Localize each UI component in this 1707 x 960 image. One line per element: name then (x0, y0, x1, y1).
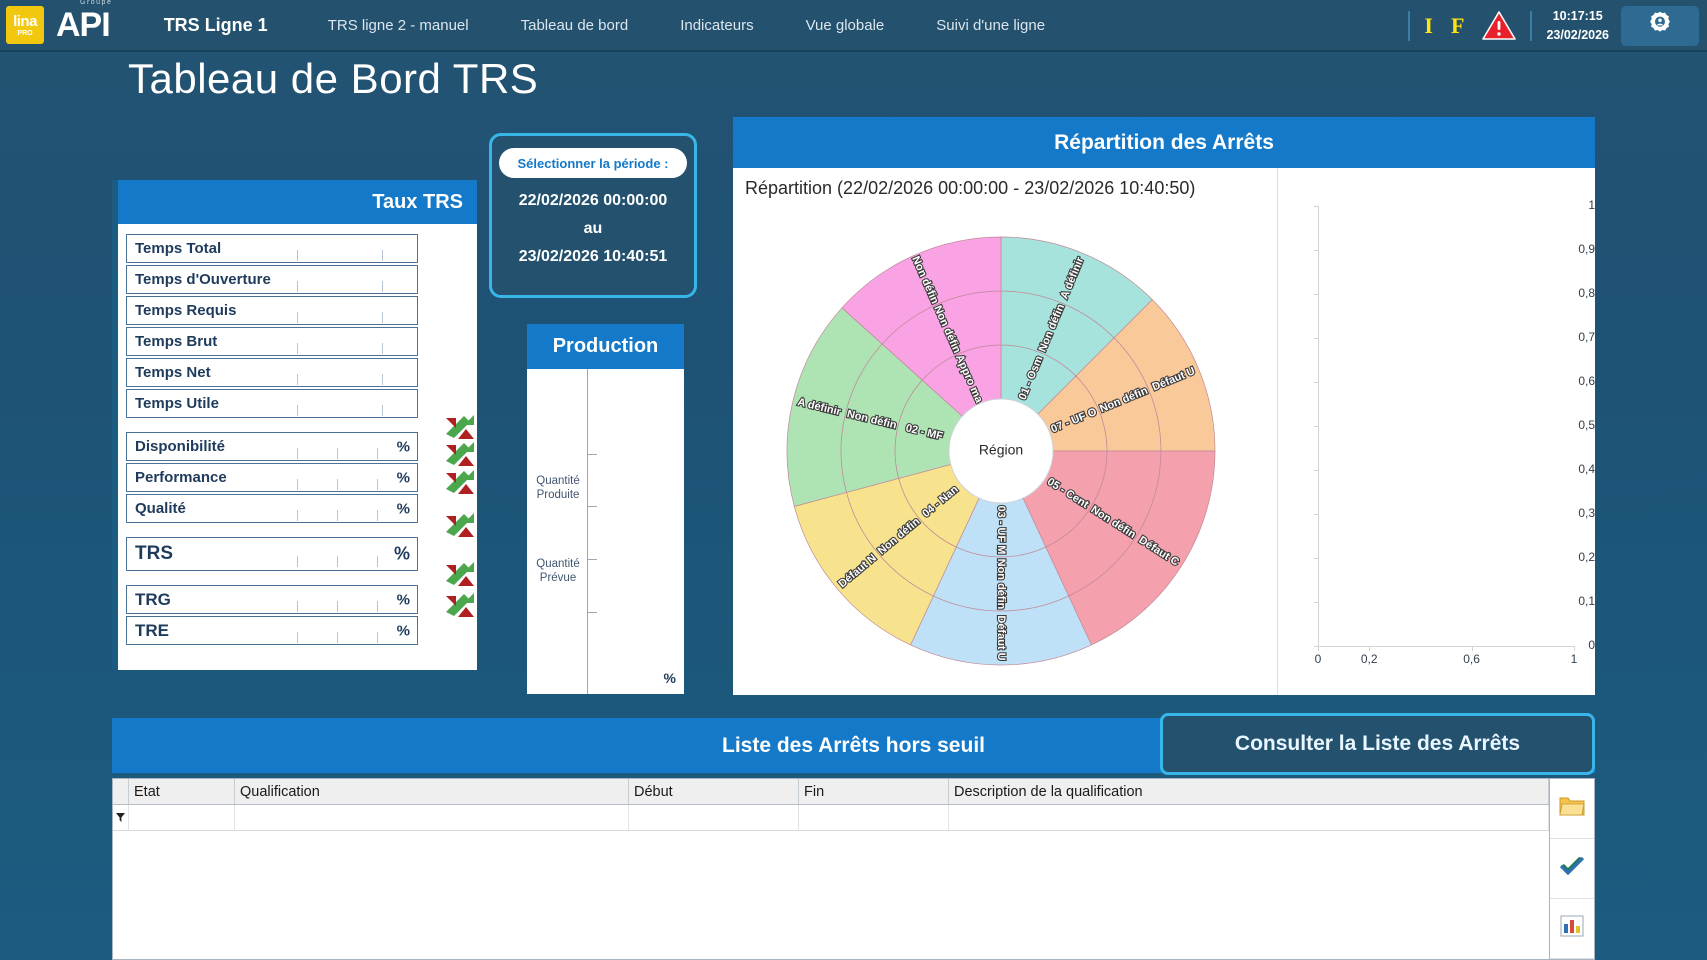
y-axis-tick-label: 0,1 (1559, 594, 1595, 608)
lina-logo-line1: lina (13, 14, 37, 29)
filter-cell-debut[interactable] (629, 805, 799, 830)
excel-export-icon[interactable] (444, 590, 476, 620)
bar-chart-icon (1560, 915, 1584, 942)
repartition-body: Répartition (22/02/2026 00:00:00 - 23/02… (733, 168, 1595, 695)
row-tick (297, 510, 298, 521)
y-axis-tick-mark (1314, 206, 1319, 207)
row-tick (377, 556, 378, 567)
production-tick (587, 506, 597, 507)
dashboard-root: lina PRO Groupe API TRS Ligne 1 TRS lign… (0, 0, 1707, 960)
row-temps-net[interactable]: Temps Net (126, 358, 418, 387)
x-axis-tick-label: 0,2 (1361, 652, 1378, 666)
row-tick (297, 374, 298, 385)
row-label: Disponibilité (127, 438, 225, 455)
row-trs[interactable]: TRS % (126, 537, 418, 571)
warning-triangle-icon[interactable] (1482, 11, 1516, 41)
sunburst-slice-label: Non défin (995, 559, 1007, 610)
clock-time: 10:17:15 (1546, 7, 1609, 26)
select-period-button[interactable]: Sélectionner la période : (499, 148, 687, 178)
row-tre[interactable]: TRE % (126, 616, 418, 645)
x-axis-tick-label: 0,6 (1463, 652, 1480, 666)
header-right-cluster: I F 10:17:15 23/02/2026 (1394, 0, 1707, 52)
row-unit: % (397, 438, 410, 455)
nav-item-indicateurs[interactable]: Indicateurs (654, 17, 779, 34)
nav-item-trs-ligne-1[interactable]: TRS Ligne 1 (138, 15, 302, 36)
status-letter-f[interactable]: F (1451, 13, 1464, 39)
check-icon (1559, 855, 1585, 882)
row-disponibilite[interactable]: Disponibilité % (126, 432, 418, 461)
row-label: Qualité (127, 500, 186, 517)
row-unit: % (394, 544, 410, 565)
lina-logo-line2: PRO (17, 30, 32, 37)
period-selector-panel: Sélectionner la période : 22/02/2026 00:… (489, 133, 697, 298)
api-logo-text: API (56, 6, 110, 44)
row-unit: % (397, 622, 410, 639)
x-axis-tick-mark (1472, 646, 1473, 651)
production-tick (587, 612, 597, 613)
y-axis-tick-mark (1314, 382, 1319, 383)
y-axis-tick-label: 0,4 (1559, 462, 1595, 476)
row-tick (297, 250, 298, 261)
row-unit: % (397, 591, 410, 608)
production-title: Production (527, 324, 684, 369)
row-label: Temps Brut (127, 333, 217, 350)
api-logo-sub: Groupe (80, 0, 112, 6)
y-axis-tick-label: 0,3 (1559, 506, 1595, 520)
row-tick (377, 479, 378, 490)
y-axis-tick-label: 1 (1559, 198, 1595, 212)
row-trg[interactable]: TRG % (126, 585, 418, 614)
sunburst-slice-label: Défaut U (995, 615, 1007, 660)
filter-funnel-icon[interactable] (113, 805, 129, 830)
y-axis-tick-mark (1314, 294, 1319, 295)
row-label: Temps Net (127, 364, 211, 381)
excel-export-icon[interactable] (444, 412, 476, 442)
status-indicator-group: I F (1424, 11, 1516, 41)
xy-chart-container[interactable]: 00,10,20,30,40,50,60,70,80,91 00,20,61 (1278, 168, 1595, 695)
column-header-etat[interactable]: Etat (129, 779, 235, 804)
row-tick (382, 343, 383, 354)
excel-export-icon[interactable] (444, 467, 476, 497)
row-unit: % (397, 469, 410, 486)
row-tick (377, 632, 378, 643)
row-label: Temps d'Ouverture (127, 271, 271, 288)
folder-button[interactable] (1550, 779, 1594, 839)
row-temps-total[interactable]: Temps Total (126, 234, 418, 263)
column-header-description[interactable]: Description de la qualification (949, 779, 1549, 804)
production-label-produced: Quantité Produite (531, 474, 585, 503)
y-axis-tick-mark (1314, 250, 1319, 251)
settings-button[interactable] (1621, 6, 1699, 46)
period-end-date: 23/02/2026 10:40:51 (519, 248, 668, 266)
row-performance[interactable]: Performance % (126, 463, 418, 492)
y-axis-tick-label: 0,8 (1559, 286, 1595, 300)
x-axis-tick-label: 0 (1315, 652, 1322, 666)
production-panel: Production Quantité Produite Quantité Pr… (527, 324, 684, 694)
consulter-liste-arrets-button[interactable]: Consulter la Liste des Arrêts (1160, 713, 1595, 775)
y-axis-tick-label: 0,6 (1559, 374, 1595, 388)
row-label: Temps Requis (127, 302, 236, 319)
row-unit: % (397, 500, 410, 517)
sunburst-chart[interactable]: 01 - OsmNon définA définir07 - UF ONon d… (751, 216, 1251, 686)
spacer (126, 420, 418, 432)
grid-side-toolbar (1549, 779, 1594, 959)
status-letter-i[interactable]: I (1424, 13, 1433, 39)
validate-button[interactable] (1550, 839, 1594, 899)
x-axis-line (1318, 646, 1574, 647)
repartition-panel: Répartition des Arrêts Répartition (22/0… (733, 117, 1595, 695)
y-axis-tick-mark (1314, 514, 1319, 515)
production-tick (587, 454, 597, 455)
row-tick (377, 510, 378, 521)
production-label-planned: Quantité Prévue (531, 557, 585, 586)
y-axis-tick-mark (1314, 426, 1319, 427)
row-qualite[interactable]: Qualité % (126, 494, 418, 523)
row-tick (377, 448, 378, 459)
column-header-qualification[interactable]: Qualification (235, 779, 629, 804)
api-logo: Groupe API (56, 8, 110, 42)
excel-export-icon[interactable] (444, 439, 476, 469)
row-label: Temps Total (127, 240, 221, 257)
row-tick (297, 312, 298, 323)
row-tick (297, 556, 298, 567)
row-temps-brut[interactable]: Temps Brut (126, 327, 418, 356)
y-axis-tick-label: 0 (1559, 638, 1595, 652)
period-separator: au (584, 220, 603, 238)
row-tick (297, 448, 298, 459)
arrets-data-grid: Etat Qualification Début Fin Description… (112, 778, 1595, 960)
row-tick (337, 448, 338, 459)
row-tick (382, 405, 383, 416)
row-tick (382, 374, 383, 385)
row-label: TRS (127, 543, 173, 565)
header-divider-left (1408, 11, 1410, 41)
column-header-fin[interactable]: Fin (799, 779, 949, 804)
y-axis-tick-label: 0,2 (1559, 550, 1595, 564)
header-divider-right (1530, 11, 1532, 41)
row-tick (382, 250, 383, 261)
row-label: Temps Utile (127, 395, 219, 412)
lina-logo: lina PRO (6, 6, 44, 44)
y-axis-tick-mark (1314, 558, 1319, 559)
grid-main: Etat Qualification Début Fin Description… (113, 779, 1549, 959)
excel-export-icon[interactable] (444, 510, 476, 540)
row-tick (297, 405, 298, 416)
sunburst-center-label: Région (979, 442, 1023, 458)
filter-cell-fin[interactable] (799, 805, 949, 830)
chart-button[interactable] (1550, 899, 1594, 959)
x-axis-tick-label: 1 (1571, 652, 1578, 666)
row-tick (337, 632, 338, 643)
folder-icon (1559, 795, 1585, 822)
row-tick (297, 343, 298, 354)
y-axis-tick-mark (1314, 338, 1319, 339)
y-axis-tick-label: 0,5 (1559, 418, 1595, 432)
grid-header-row: Etat Qualification Début Fin Description… (113, 779, 1549, 805)
app-header: lina PRO Groupe API TRS Ligne 1 TRS lign… (0, 0, 1707, 52)
production-chart: Quantité Produite Quantité Prévue % (527, 369, 684, 694)
sunburst-slice-label: 03 - UF M (995, 506, 1007, 555)
y-axis-tick-mark (1314, 470, 1319, 471)
row-tick (297, 281, 298, 292)
nav-item-suivi-d-une-ligne[interactable]: Suivi d'une ligne (910, 17, 1071, 34)
production-axis (587, 369, 588, 694)
x-axis-tick-mark (1574, 646, 1575, 651)
excel-export-icon[interactable] (444, 559, 476, 589)
page-title: Tableau de Bord TRS (128, 55, 538, 103)
taux-trs-rows: Temps Total Temps d'Ouverture Temps Requ… (118, 224, 426, 645)
row-tick (337, 556, 338, 567)
main-nav: TRS Ligne 1 TRS ligne 2 - manuel Tableau… (138, 0, 1071, 51)
sunburst-container: Répartition (22/02/2026 00:00:00 - 23/02… (733, 168, 1278, 695)
nav-item-tableau-de-bord[interactable]: Tableau de bord (495, 17, 655, 34)
row-tick (337, 601, 338, 612)
row-tick (377, 601, 378, 612)
row-temps-ouverture[interactable]: Temps d'Ouverture (126, 265, 418, 294)
spacer (126, 573, 418, 585)
nav-item-trs-ligne-2-manuel[interactable]: TRS ligne 2 - manuel (302, 17, 495, 34)
nav-item-vue-globale[interactable]: Vue globale (780, 17, 911, 34)
x-axis-tick-mark (1369, 646, 1370, 651)
row-tick (337, 510, 338, 521)
filter-cell-qualification[interactable] (235, 805, 629, 830)
spacer (126, 525, 418, 537)
grid-header-corner (113, 779, 129, 804)
y-axis-tick-label: 0,7 (1559, 330, 1595, 344)
row-temps-utile[interactable]: Temps Utile (126, 389, 418, 418)
row-tick (382, 281, 383, 292)
row-label: TRE (127, 621, 169, 641)
filter-cell-description[interactable] (949, 805, 1549, 830)
row-label: Performance (127, 469, 227, 486)
clock-date: 23/02/2026 (1546, 26, 1609, 45)
row-label: TRG (127, 590, 171, 610)
grid-filter-row (113, 805, 1549, 831)
row-temps-requis[interactable]: Temps Requis (126, 296, 418, 325)
row-tick (297, 601, 298, 612)
y-axis-tick-label: 0,9 (1559, 242, 1595, 256)
row-tick (337, 479, 338, 490)
row-tick (297, 479, 298, 490)
row-tick (382, 312, 383, 323)
filter-cell-etat[interactable] (129, 805, 235, 830)
repartition-title: Répartition des Arrêts (733, 117, 1595, 168)
row-tick (297, 632, 298, 643)
repartition-subtitle: Répartition (22/02/2026 00:00:00 - 23/02… (745, 178, 1195, 199)
taux-trs-title: Taux TRS (118, 180, 477, 224)
x-axis-tick-mark (1318, 646, 1319, 651)
gear-icon (1646, 10, 1674, 43)
column-header-debut[interactable]: Début (629, 779, 799, 804)
period-start-date: 22/02/2026 00:00:00 (519, 192, 668, 210)
production-tick (587, 559, 597, 560)
taux-trs-panel: Taux TRS Temps Total Temps d'Ouverture T… (112, 180, 477, 670)
clock-widget: 10:17:15 23/02/2026 (1546, 7, 1609, 45)
y-axis-tick-mark (1314, 602, 1319, 603)
production-unit: % (664, 670, 676, 686)
